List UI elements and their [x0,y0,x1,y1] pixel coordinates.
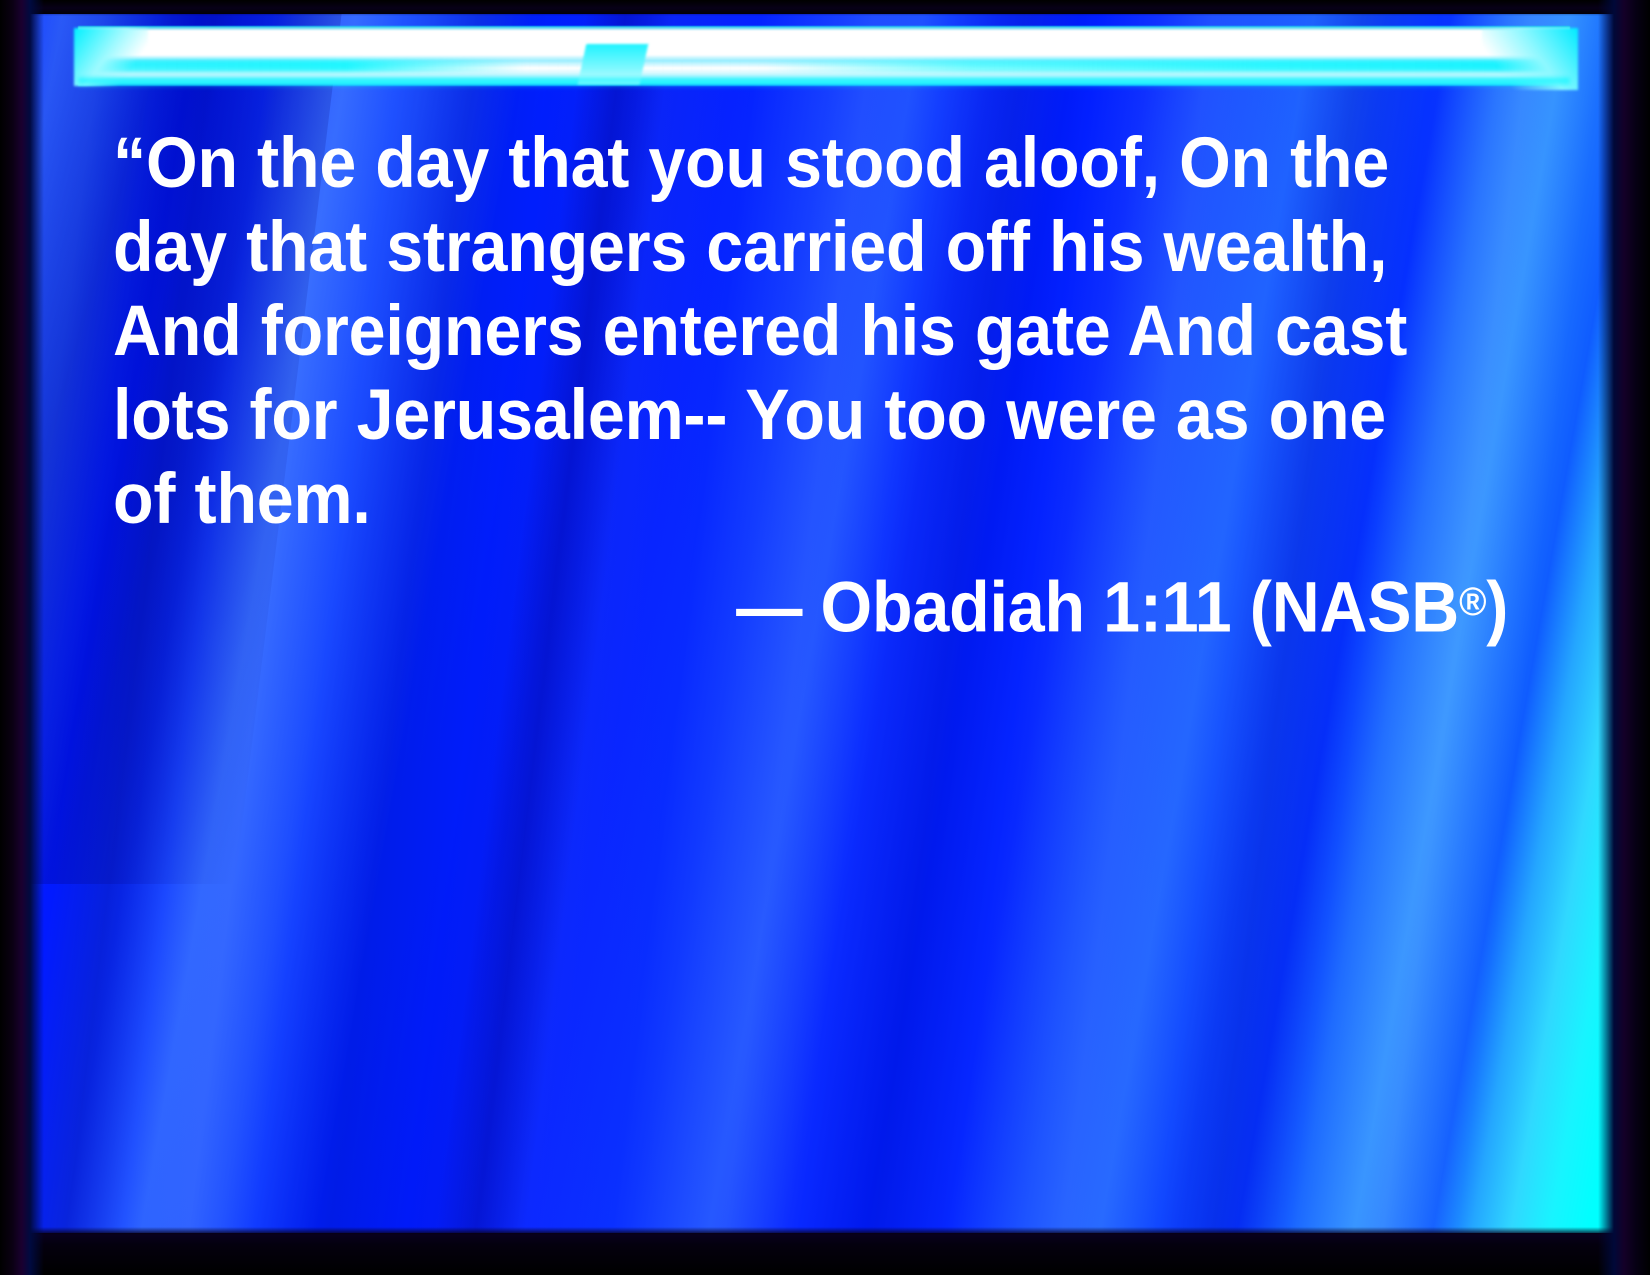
registered-trademark-icon: ® [1459,580,1486,624]
top-white-band [78,26,1570,86]
verse-reference-prefix: — Obadiah 1:11 (NASB [736,569,1459,648]
verse-reference-suffix: ) [1486,569,1508,648]
verse-reference: — Obadiah 1:11 (NASB®) [180,560,1540,651]
verse-text: “On the day that you stood aloof, On the… [85,122,1445,542]
slide-canvas: “On the day that you stood aloof, On the… [30,14,1616,1233]
verse-slide: “On the day that you stood aloof, On the… [0,0,1650,1275]
top-band-underglow [78,78,1570,88]
verse-block: “On the day that you stood aloof, On the… [85,122,1540,651]
top-band-cyan-stripe [78,60,1570,72]
